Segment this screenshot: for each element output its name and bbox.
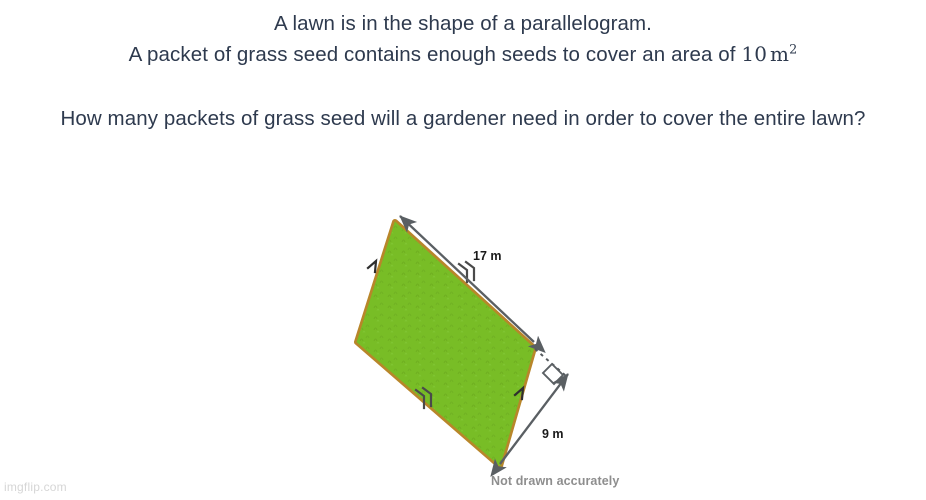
right-angle-square xyxy=(543,364,563,384)
area-unit: m xyxy=(770,42,789,66)
parallelogram-diagram: 17 m 9 m xyxy=(330,190,630,490)
question-text-block: A lawn is in the shape of a parallelogra… xyxy=(0,10,926,69)
question-line-1: A lawn is in the shape of a parallelogra… xyxy=(0,10,926,38)
single-chevron-tick-left xyxy=(368,261,376,272)
dimension-label-17m: 17 m xyxy=(473,249,502,263)
page-canvas: A lawn is in the shape of a parallelogra… xyxy=(0,0,926,500)
dimension-label-9m: 9 m xyxy=(542,427,564,441)
diagram-caption: Not drawn accurately xyxy=(491,474,619,488)
height-extension-dashed-line xyxy=(535,349,566,376)
area-value: 10 xyxy=(741,42,767,66)
area-math-expression: 10m2 xyxy=(741,42,797,66)
question-line-2-prefix: A packet of grass seed contains enough s… xyxy=(129,43,742,66)
imgflip-watermark: imgflip.com xyxy=(4,480,67,494)
question-line-3: How many packets of grass seed will a ga… xyxy=(0,105,926,133)
question-paragraph-3: How many packets of grass seed will a ga… xyxy=(0,105,926,133)
question-line-2: A packet of grass seed contains enough s… xyxy=(0,40,926,69)
area-unit-exponent: 2 xyxy=(789,42,797,57)
